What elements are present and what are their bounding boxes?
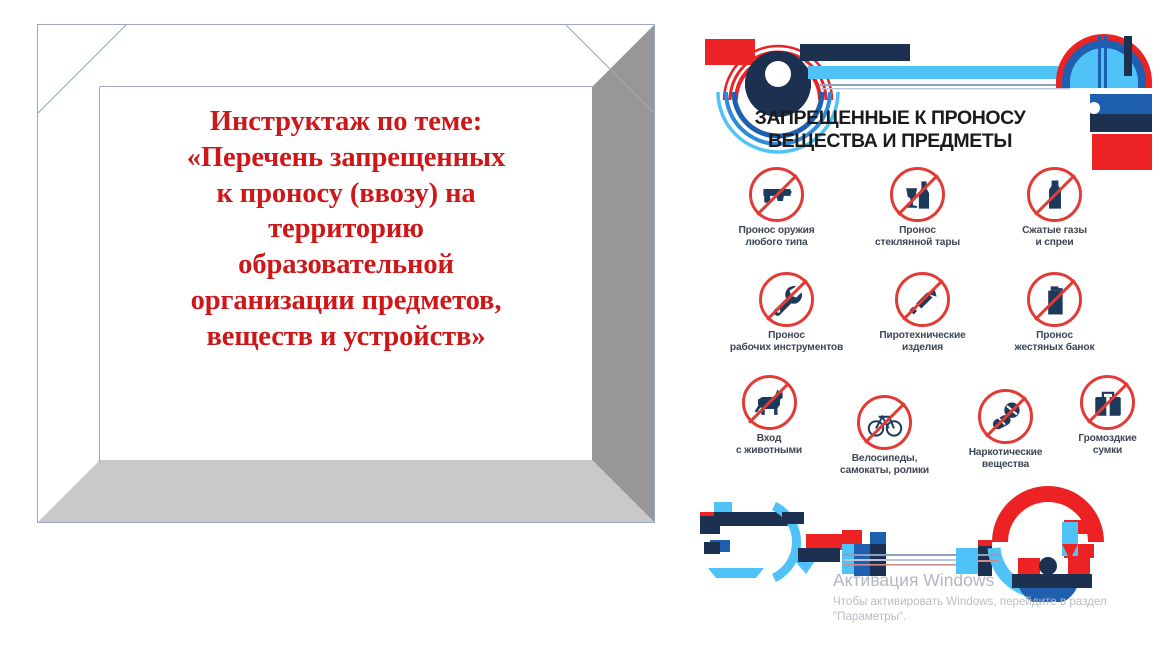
item-label-line-2: вещества (948, 459, 1063, 471)
item-label: Пронос рабочих инструментов (714, 330, 859, 354)
prohibited-item-suitcase: Громоздкие сумки (1055, 375, 1160, 457)
prohibition-sign (1027, 272, 1082, 327)
beveled-picture-frame: Инструктаж по теме: «Перечень запрещенны… (37, 24, 655, 523)
prohibited-item-spray: Сжатые газы и спреи (992, 167, 1117, 249)
slide-title-line-2: «Перечень запрещенных (100, 140, 592, 176)
item-label-line-1: Пронос (855, 225, 980, 237)
prohibited-item-wrench: Пронос рабочих инструментов (714, 272, 859, 354)
item-label: Пронос стеклянной тары (855, 225, 980, 249)
prohibited-item-glass-bottle: Пронос стеклянной тары (855, 167, 980, 249)
item-label-line-2: сумки (1055, 445, 1160, 457)
poster-title-line-1: ЗАПРЕЩЕННЫЕ К ПРОНОСУ (700, 107, 1080, 130)
frame-content-area: Инструктаж по теме: «Перечень запрещенны… (100, 87, 592, 460)
poster-title-line-2: ВЕЩЕСТВА И ПРЕДМЕТЫ (700, 130, 1080, 153)
prohibition-sign (978, 389, 1033, 444)
frame-bevel-bottom (38, 460, 654, 522)
item-label: Громоздкие сумки (1055, 433, 1160, 457)
item-label-line-1: Пронос (714, 330, 859, 342)
prohibited-item-bicycle: Велосипеды, самокаты, ролики (822, 395, 947, 477)
item-label-line-1: Велосипеды, (822, 453, 947, 465)
prohibited-icons-grid: Пронос оружия любого типа Про (700, 167, 1160, 497)
item-label-line-1: Наркотические (948, 447, 1063, 459)
item-label-line-1: Пронос (992, 330, 1117, 342)
prohibited-item-drugs: Наркотические вещества (948, 389, 1063, 471)
slide-title-line-6: организации предметов, (100, 283, 592, 319)
item-label-line-1: Громоздкие (1055, 433, 1160, 445)
slide-title-line-1: Инструктаж по теме: (100, 104, 592, 140)
prohibition-sign (749, 167, 804, 222)
item-label: Пиротехнические изделия (860, 330, 985, 354)
item-label: Наркотические вещества (948, 447, 1063, 471)
prohibition-sign (1027, 167, 1082, 222)
item-label-line-1: Сжатые газы (992, 225, 1117, 237)
prohibition-sign (890, 167, 945, 222)
item-label-line-2: любого типа (714, 237, 839, 249)
item-label: Пронос жестяных банок (992, 330, 1117, 354)
poster-title: ЗАПРЕЩЕННЫЕ К ПРОНОСУ ВЕЩЕСТВА И ПРЕДМЕТ… (700, 107, 1080, 152)
item-label-line-2: и спреи (992, 237, 1117, 249)
frame-bevel-top (38, 25, 654, 87)
item-label: Вход с животными (714, 433, 824, 457)
prohibited-item-tin-can: Пронос жестяных банок (992, 272, 1117, 354)
prohibition-sign (742, 375, 797, 430)
prohibited-item-firework: Пиротехнические изделия (860, 272, 985, 354)
slide-title-line-7: веществ и устройств» (100, 319, 592, 355)
prohibition-sign (1080, 375, 1135, 430)
item-label-line-1: Пронос оружия (714, 225, 839, 237)
prohibited-items-poster: ЗАПРЕЩЕННЫЕ К ПРОНОСУ ВЕЩЕСТВА И ПРЕДМЕТ… (700, 22, 1160, 602)
slide-title-line-4: территорию (100, 211, 592, 247)
bottom-decorative-graphic (694, 482, 1166, 602)
prohibition-sign (895, 272, 950, 327)
slide-title-line-3: к проносу (ввозу) на (100, 176, 592, 212)
prohibition-sign (759, 272, 814, 327)
item-label: Велосипеды, самокаты, ролики (822, 453, 947, 477)
item-label-line-2: самокаты, ролики (822, 465, 947, 477)
item-label-line-2: с животными (714, 445, 824, 457)
item-label-line-2: рабочих инструментов (714, 342, 859, 354)
slide-title-line-5: образовательной (100, 247, 592, 283)
slide-canvas: Инструктаж по теме: «Перечень запрещенны… (0, 0, 1170, 651)
item-label-line-2: изделия (860, 342, 985, 354)
prohibition-sign (857, 395, 912, 450)
slide-title: Инструктаж по теме: «Перечень запрещенны… (100, 87, 592, 354)
prohibited-item-dog: Вход с животными (714, 375, 824, 457)
item-label-line-2: жестяных банок (992, 342, 1117, 354)
item-label-line-1: Пиротехнические (860, 330, 985, 342)
prohibited-item-pistol: Пронос оружия любого типа (714, 167, 839, 249)
item-label-line-2: стеклянной тары (855, 237, 980, 249)
item-label: Сжатые газы и спреи (992, 225, 1117, 249)
item-label-line-1: Вход (714, 433, 824, 445)
windows-activation-line-2: "Параметры". (833, 609, 1163, 624)
item-label: Пронос оружия любого типа (714, 225, 839, 249)
